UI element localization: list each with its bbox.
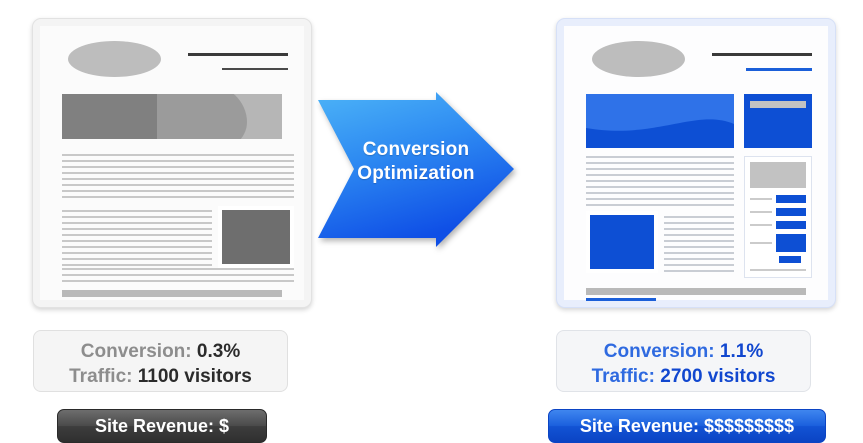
after-text-block-wrap: [664, 216, 734, 276]
widget-row-button[interactable]: [776, 195, 806, 203]
widget-row-button[interactable]: [776, 221, 806, 229]
header-headline-bar: [712, 53, 812, 56]
before-footer-bar: [62, 290, 282, 297]
after-footer-link[interactable]: [586, 298, 656, 301]
conversion-sidebar-widget[interactable]: [744, 156, 812, 278]
widget-cta-button[interactable]: [779, 256, 801, 263]
conversion-optimization-arrow: Conversion Optimization: [318, 92, 514, 247]
after-traffic-row: Traffic: 2700 visitors: [557, 364, 810, 389]
widget-row[interactable]: [750, 195, 806, 203]
widget-row-label: [750, 224, 772, 226]
before-conversion-row: Conversion: 0.3%: [34, 339, 287, 364]
before-stats-panel: Conversion: 0.3% Traffic: 1100 visitors: [33, 330, 288, 392]
after-webpage-mockup: [556, 18, 836, 308]
after-conversion-value: 1.1%: [720, 341, 763, 362]
before-content-image: [218, 206, 294, 268]
before-revenue-button[interactable]: Site Revenue: $: [57, 409, 267, 443]
hero-banner-grey: [62, 94, 282, 139]
widget-row-label: [750, 198, 772, 200]
widget-row-button-large[interactable]: [776, 234, 806, 252]
before-webpage-mockup: [32, 18, 312, 308]
after-revenue-button[interactable]: Site Revenue: $$$$$$$$$: [548, 409, 826, 443]
before-page-sheet: [40, 26, 304, 300]
hero-banner-blue: [586, 94, 734, 148]
before-traffic-label: Traffic:: [69, 366, 132, 387]
widget-footer-line: [750, 269, 806, 271]
widget-row[interactable]: [750, 234, 806, 252]
widget-image: [750, 162, 806, 188]
after-text-block-top: [586, 156, 734, 210]
after-conversion-row: Conversion: 1.1%: [557, 339, 810, 364]
promo-panel-bar: [750, 101, 806, 108]
after-traffic-label: Traffic:: [592, 366, 655, 387]
widget-row-button[interactable]: [776, 208, 806, 216]
promo-panel: [744, 94, 812, 148]
before-text-block-bottom: [62, 268, 294, 286]
comparison-infographic: Site Revenue Comparison: [0, 0, 863, 430]
header-headline-bar: [188, 53, 288, 56]
after-content-image: [586, 211, 658, 273]
widget-row-label: [750, 211, 772, 213]
widget-row[interactable]: [750, 221, 806, 229]
right-arrow-icon: [318, 92, 514, 247]
header-subline-bar: [222, 68, 288, 70]
before-text-block-top: [62, 154, 294, 202]
after-conversion-label: Conversion:: [604, 341, 715, 362]
header-subline-bar-blue: [746, 68, 812, 71]
after-footer-bar: [586, 288, 806, 295]
logo-placeholder-icon: [592, 41, 685, 77]
before-text-block-wrap: [62, 210, 212, 270]
after-stats-panel: Conversion: 1.1% Traffic: 2700 visitors: [556, 330, 811, 392]
widget-row-label: [750, 242, 772, 244]
after-traffic-value: 2700 visitors: [660, 366, 775, 387]
before-conversion-value: 0.3%: [197, 341, 240, 362]
logo-placeholder-icon: [68, 41, 161, 77]
widget-row[interactable]: [750, 208, 806, 216]
before-conversion-label: Conversion:: [81, 341, 192, 362]
before-traffic-row: Traffic: 1100 visitors: [34, 364, 287, 389]
after-page-sheet: [564, 26, 828, 300]
before-traffic-value: 1100 visitors: [138, 366, 252, 387]
